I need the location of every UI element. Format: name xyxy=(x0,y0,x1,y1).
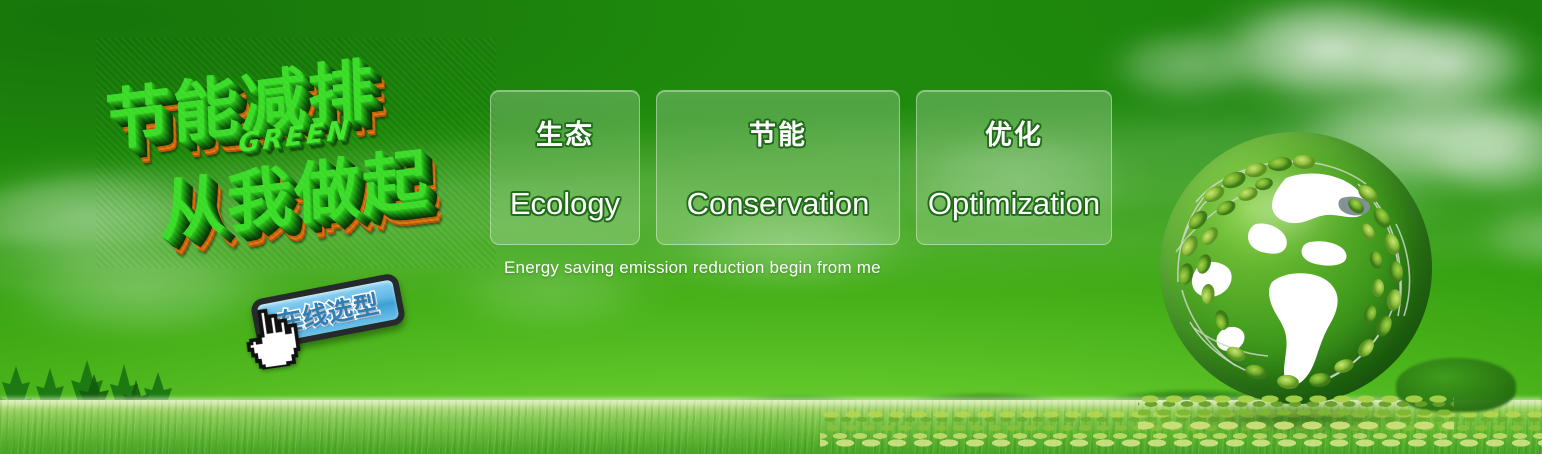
feature-card-conservation[interactable]: 节能 Conservation xyxy=(656,90,900,245)
feature-card-optimization[interactable]: 优化 Optimization xyxy=(916,90,1112,245)
green-energy-banner: 节能减排 GREEN 从我做起 在线选型 生态 Ecology 节能 Conse… xyxy=(0,0,1542,454)
feature-card-cn-label: 优化 xyxy=(985,113,1043,152)
hand-pointer-icon xyxy=(237,300,307,372)
feature-card-ecology[interactable]: 生态 Ecology xyxy=(490,90,640,245)
feature-card-cn-label: 节能 xyxy=(749,113,807,152)
feature-card-en-label: Optimization xyxy=(928,186,1100,222)
globe-highlight xyxy=(1204,154,1362,263)
globe-sphere xyxy=(1160,132,1432,404)
feature-card-en-label: Conservation xyxy=(687,186,870,222)
feature-card-cn-label: 生态 xyxy=(536,113,594,152)
leafy-earth-globe xyxy=(1146,128,1446,430)
online-selection-cta[interactable]: 在线选型 xyxy=(253,274,421,358)
globe-base-leaves xyxy=(1138,386,1454,434)
feature-card-list: 生态 Ecology 节能 Conservation 优化 Optimizati… xyxy=(490,90,1112,245)
feature-card-en-label: Ecology xyxy=(510,186,620,222)
tagline-text: Energy saving emission reduction begin f… xyxy=(504,258,881,278)
